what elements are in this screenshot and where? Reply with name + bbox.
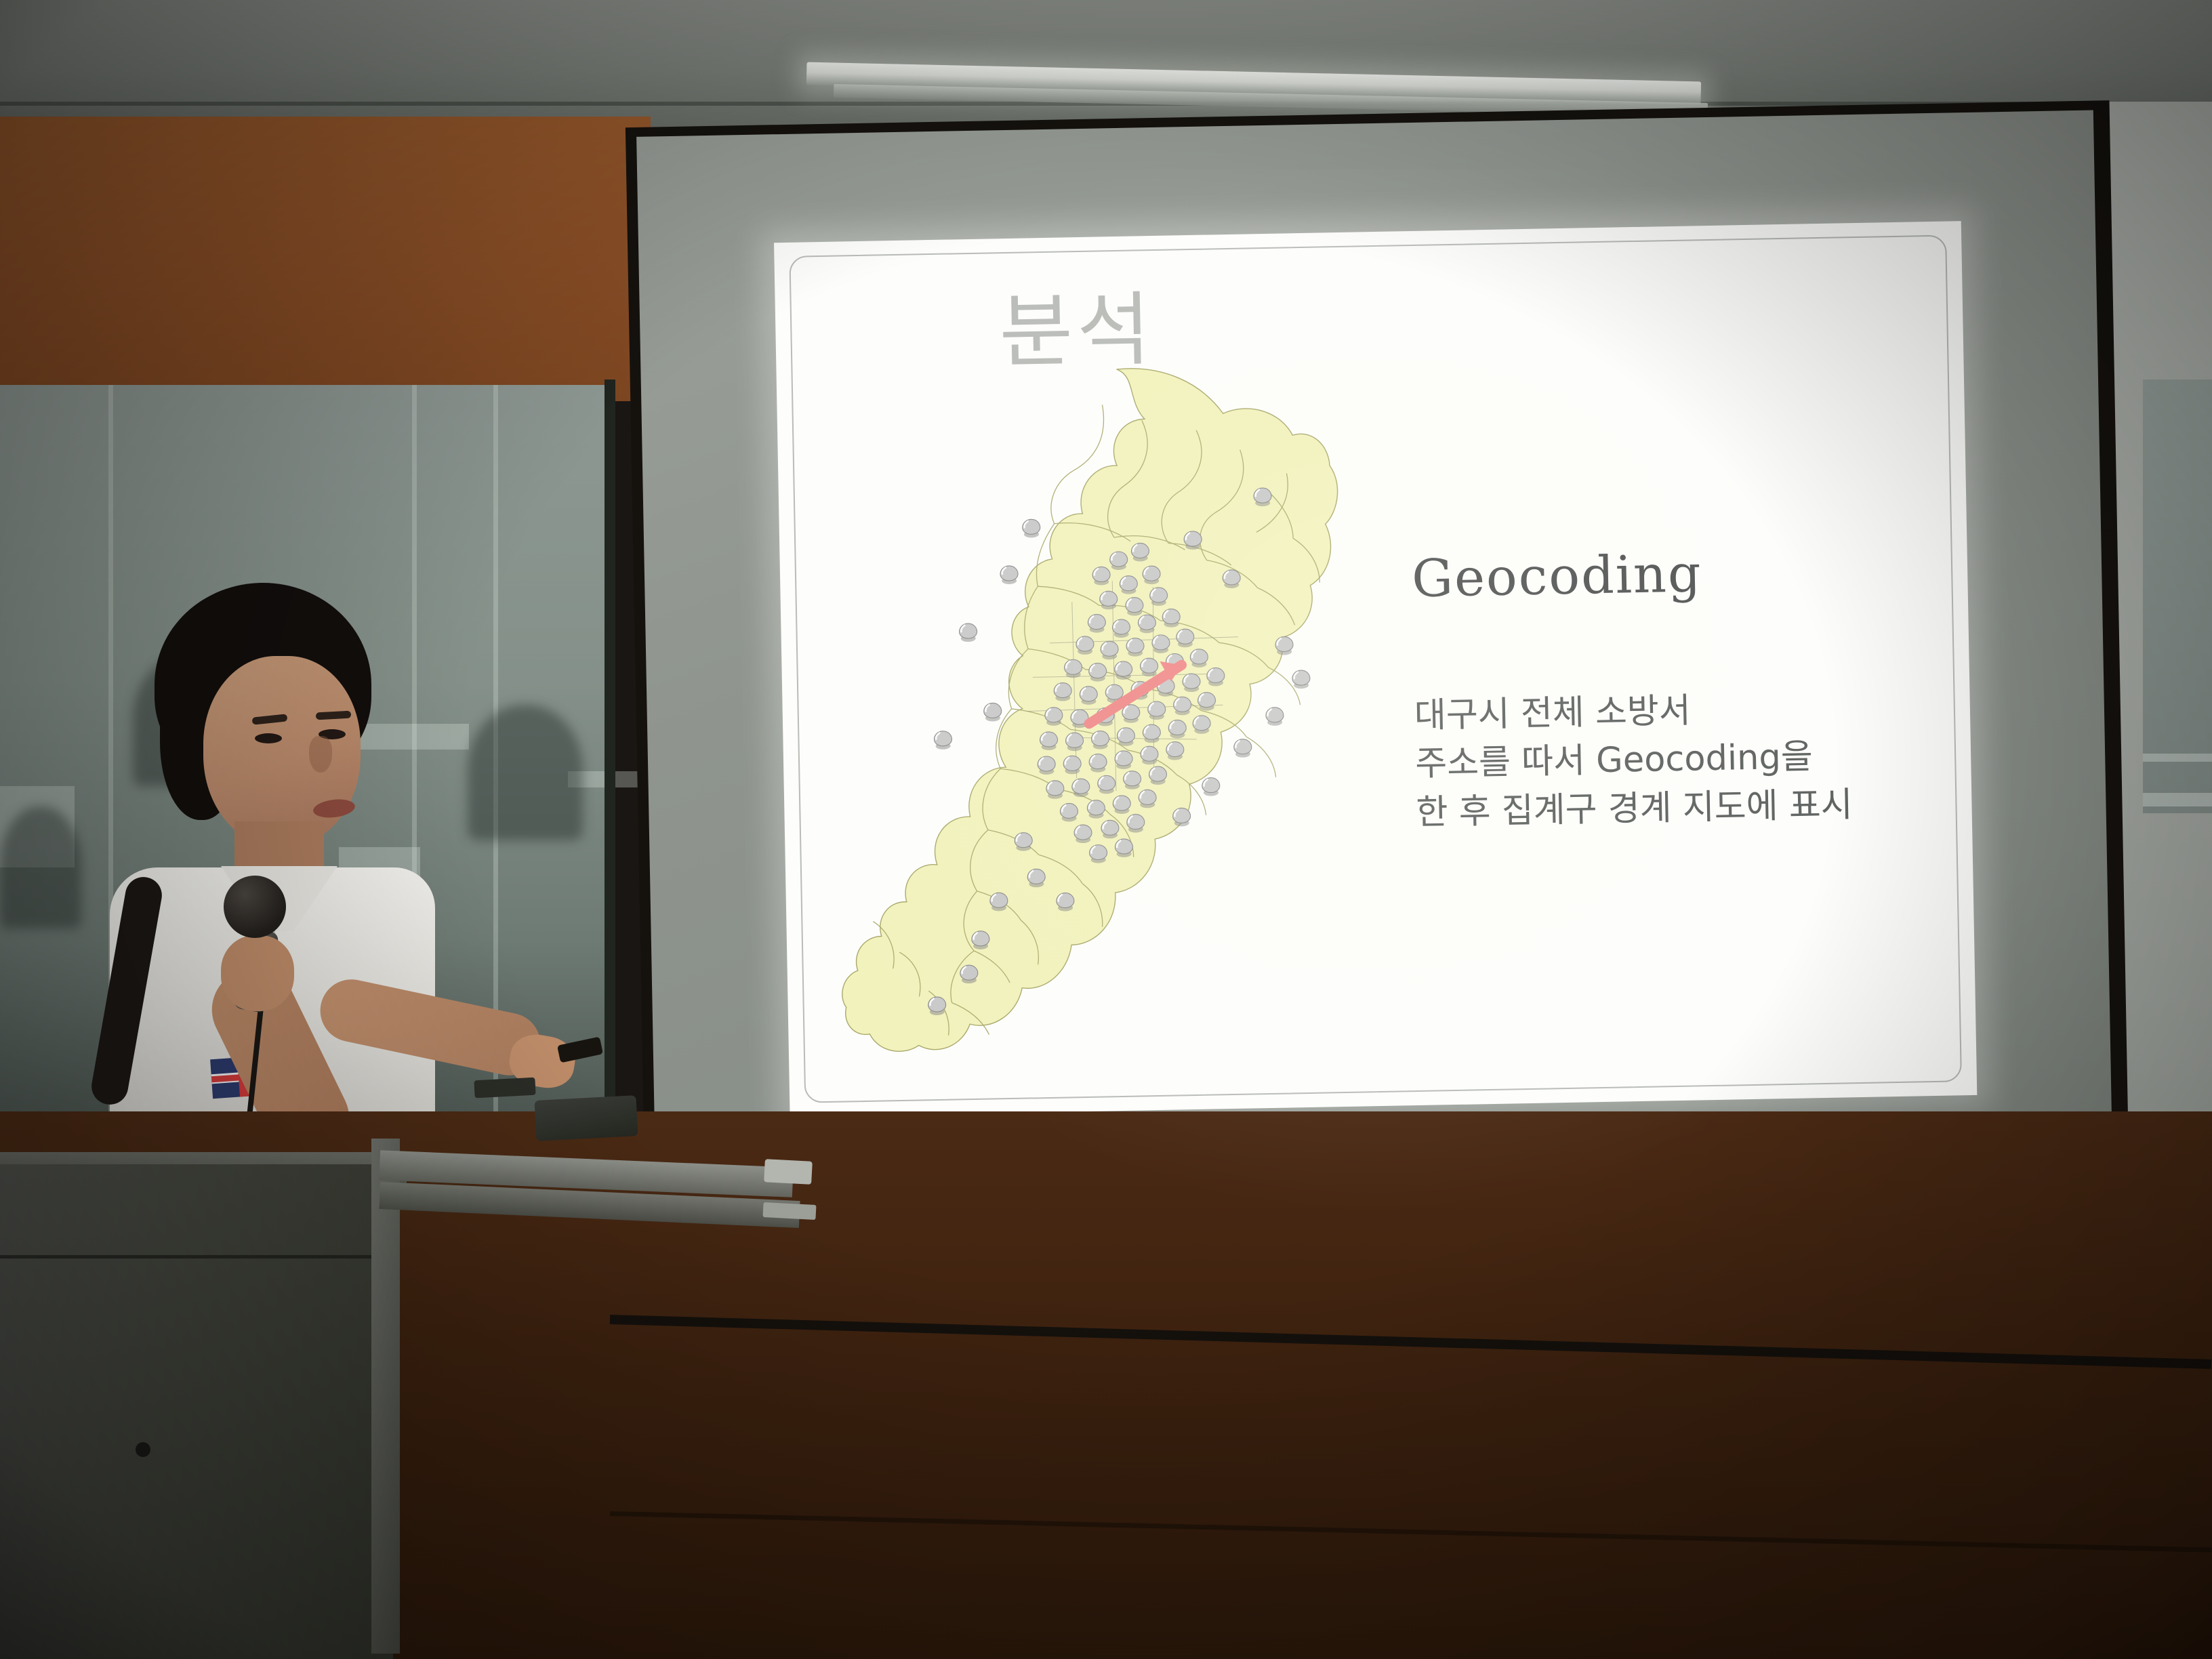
presenter-face bbox=[203, 656, 361, 847]
audience-silhouette bbox=[0, 806, 81, 928]
presenter-nose bbox=[309, 736, 332, 773]
laptop-device bbox=[535, 1095, 638, 1141]
body-line-3: 한 후 집계구 경계 지도에 표시 bbox=[1416, 779, 1972, 837]
right-glass-reflection bbox=[2143, 754, 2212, 762]
geocoding-body-text: 대구시 전체 소방서 주소를 따서 Geocoding을 한 후 집계구 경계 … bbox=[1414, 682, 1972, 837]
microphone-head bbox=[224, 876, 286, 938]
rail-clamp-lower bbox=[762, 1202, 816, 1220]
right-glass-panel bbox=[2143, 380, 2212, 813]
presenter-hand-left bbox=[221, 935, 294, 1011]
podium bbox=[0, 1164, 393, 1659]
daegu-map-graphic bbox=[823, 352, 1372, 1080]
rail-post bbox=[371, 1139, 400, 1654]
eye-left bbox=[255, 733, 282, 743]
desk-device bbox=[474, 1078, 535, 1099]
map-svg bbox=[823, 352, 1372, 1080]
wood-wall-upper-left bbox=[0, 117, 651, 401]
presenter: 20 GREAT bbox=[95, 583, 569, 1193]
projected-slide: 분석 bbox=[774, 221, 1977, 1117]
right-glass-reflection bbox=[2143, 793, 2212, 806]
podium-screw bbox=[136, 1442, 150, 1457]
glass-frame bbox=[605, 380, 615, 1132]
geocoding-heading: Geocoding bbox=[1411, 543, 1702, 609]
screenshot-stage: 분석 bbox=[0, 0, 2212, 1659]
rail-clamp-upper bbox=[764, 1159, 813, 1185]
podium-panel-seam bbox=[0, 1255, 393, 1258]
